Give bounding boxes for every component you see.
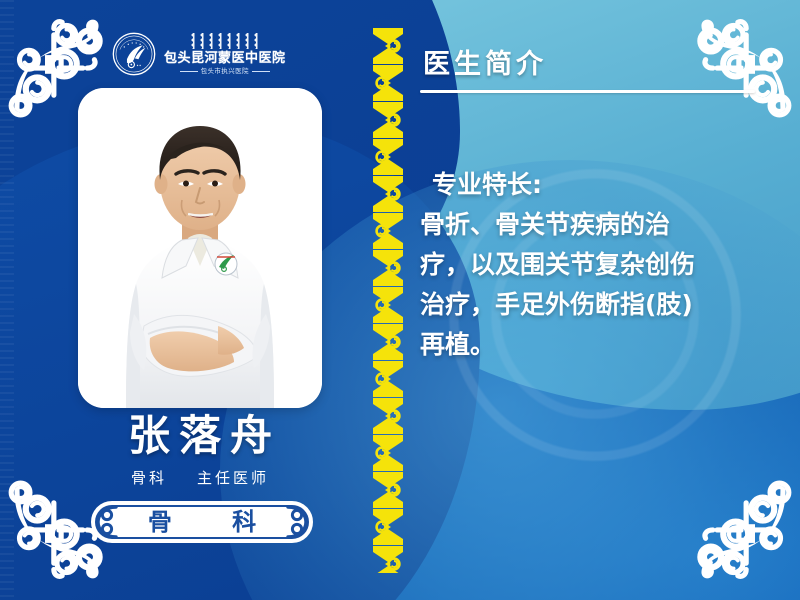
profile-line-2: 疗，以及围关节复杂创伤 bbox=[420, 245, 782, 285]
mongolian-script-icon bbox=[191, 33, 258, 50]
profile-line-3: 治疗，手足外伤断指(肢) bbox=[420, 285, 782, 325]
hospital-seal-icon bbox=[112, 32, 156, 76]
doctor-name: 张落舟 bbox=[0, 412, 400, 460]
corner-ornament-top-right bbox=[690, 14, 794, 118]
profile-body: 专业特长: 骨折、骨关节疾病的治 疗，以及围关节复杂创伤 治疗，手足外伤断指(肢… bbox=[420, 165, 782, 365]
hospital-logo-row: 包头昆河蒙医中医院 包头市执兴医院 bbox=[112, 28, 342, 80]
hospital-subtitle: 包头市执兴医院 bbox=[180, 67, 270, 76]
doctor-portrait bbox=[78, 88, 322, 408]
hospital-subtitle-text: 包头市执兴医院 bbox=[201, 67, 249, 76]
badge-scroll-left bbox=[92, 503, 122, 541]
profile-line-4: 再植。 bbox=[420, 325, 782, 365]
panel-title: 医生简介 bbox=[423, 48, 547, 82]
doctor-profile-poster: 包头昆河蒙医中医院 包头市执兴医院 bbox=[0, 0, 800, 600]
vertical-ornament-band bbox=[371, 28, 405, 573]
department-badge-label: 骨 科 bbox=[122, 507, 282, 537]
profile-line-1: 骨折、骨关节疾病的治 bbox=[420, 205, 782, 245]
hospital-logo-text: 包头昆河蒙医中医院 包头市执兴医院 bbox=[164, 33, 286, 76]
doctor-department: 骨科 bbox=[131, 468, 167, 488]
badge-scroll-right bbox=[282, 503, 312, 541]
panel-title-underline bbox=[420, 90, 755, 93]
doctor-titles: 骨科 主任医师 bbox=[0, 468, 400, 488]
corner-ornament-bottom-right bbox=[690, 480, 794, 584]
specialty-label: 专业特长: bbox=[420, 165, 782, 205]
hospital-name: 包头昆河蒙医中医院 bbox=[164, 51, 286, 66]
doctor-photo-card bbox=[78, 88, 322, 408]
doctor-rank: 主任医师 bbox=[197, 468, 269, 488]
department-badge: 骨 科 bbox=[90, 500, 314, 544]
